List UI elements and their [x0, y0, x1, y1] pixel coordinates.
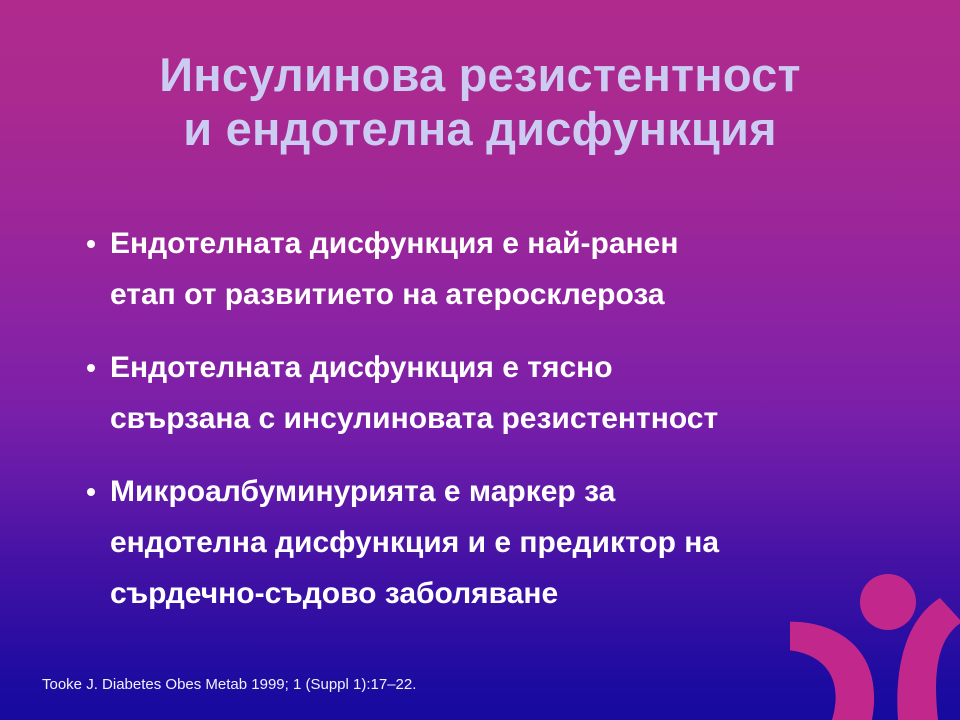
bullet-3-line-3: сърдечно-съдово заболяване	[110, 568, 896, 619]
bullet-1-line-2: етап от развитието на атеросклероза	[110, 269, 896, 320]
bullet-list: Ендотелната дисфункция е най-ранен етап …	[84, 218, 896, 619]
bullet-3-line-2: ендотелна дисфункция и е предиктор на	[110, 517, 896, 568]
bullet-item-2: Ендотелната дисфункция е тясно свързана …	[84, 342, 896, 444]
slide: Инсулинова резистентност и ендотелна дис…	[0, 0, 960, 720]
bullet-3-line-1: Микроалбуминурията е маркер за	[110, 466, 896, 517]
bullet-1-line-1: Ендотелната дисфункция е най-ранен	[110, 218, 896, 269]
slide-title: Инсулинова резистентност и ендотелна дис…	[0, 48, 960, 156]
title-line-1: Инсулинова резистентност	[0, 48, 960, 102]
bullet-marker-icon	[87, 240, 95, 248]
bullet-2-line-2: свързана с инсулиновата резистентност	[110, 393, 896, 444]
bullet-2-line-1: Ендотелната дисфункция е тясно	[110, 342, 896, 393]
bullet-item-1: Ендотелната дисфункция е най-ранен етап …	[84, 218, 896, 320]
bullet-marker-icon	[87, 488, 95, 496]
title-line-2: и ендотелна дисфункция	[0, 102, 960, 156]
bullet-marker-icon	[87, 364, 95, 372]
bullet-item-3: Микроалбуминурията е маркер за ендотелна…	[84, 466, 896, 619]
citation-reference: Tooke J. Diabetes Obes Metab 1999; 1 (Su…	[42, 676, 416, 694]
